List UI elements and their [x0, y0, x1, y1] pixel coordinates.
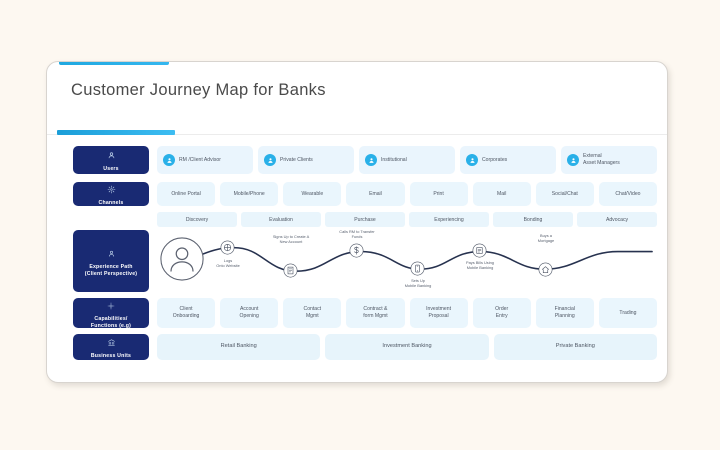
users-icon [107, 147, 116, 165]
channel-pill[interactable]: Online Portal [157, 182, 215, 206]
row-label-capabilities-text: Capabilities/ Functions (e.g) [91, 316, 131, 329]
channel-pill[interactable]: Mobile/Phone [220, 182, 278, 206]
users-cells: RM /Client Advisor Private Clients Insti… [149, 146, 667, 174]
row-label-business-units[interactable]: Business Units [73, 334, 149, 360]
row-label-channels[interactable]: Channels [73, 182, 149, 206]
capability-pill[interactable]: Account Opening [220, 298, 278, 328]
business-unit-pill[interactable]: Private Banking [494, 334, 657, 360]
stage-chip[interactable]: Advocacy [577, 212, 657, 227]
journey-node-label: Logs Onto Website [201, 258, 255, 269]
house-icon[interactable] [538, 262, 553, 277]
stage-chip[interactable]: Experiencing [409, 212, 489, 227]
channel-pill[interactable]: Print [410, 182, 468, 206]
user-pill[interactable]: Corporates [460, 146, 556, 174]
row-label-users[interactable]: Users [73, 146, 149, 174]
stage-chip[interactable]: Discovery [157, 212, 237, 227]
capability-pill[interactable]: Contact Mgmt [283, 298, 341, 328]
business-units-cells: Retail Banking Investment Banking Privat… [149, 334, 667, 360]
globe-icon[interactable] [220, 240, 235, 255]
path-icon [107, 245, 116, 263]
row-label-business-units-text: Business Units [91, 353, 131, 360]
capability-pill[interactable]: Trading [599, 298, 657, 328]
slide-card: Customer Journey Map for Banks Users RM [46, 61, 668, 383]
journey-stages-row: Discovery Evaluation Purchase Experienci… [47, 212, 667, 227]
bill-icon[interactable] [472, 243, 487, 258]
row-label-experience-path-text: Experience Path (Client Perspective) [85, 264, 137, 277]
users-row: Users RM /Client Advisor Private Clients [47, 146, 667, 174]
row-label-experience-path[interactable]: Experience Path (Client Perspective) [73, 230, 149, 292]
capability-pill[interactable]: Contract & form Mgmt [346, 298, 404, 328]
journey-node-label: Calls RM to Transfer Funds [330, 229, 384, 240]
stages-cells: Discovery Evaluation Purchase Experienci… [149, 212, 667, 227]
capability-pill[interactable]: Financial Planning [536, 298, 594, 328]
journey-node-label: Signs Up to Create A New Account [264, 234, 318, 245]
user-pill-label: Corporates [482, 157, 507, 164]
money-icon[interactable] [349, 243, 364, 258]
capability-pill[interactable]: Client Onboarding [157, 298, 215, 328]
journey-node-label: Sets Up Mobile Banking [391, 278, 445, 289]
stage-chip[interactable]: Evaluation [241, 212, 321, 227]
page-title: Customer Journey Map for Banks [71, 81, 326, 100]
stage-chip[interactable]: Bonding [493, 212, 573, 227]
user-pill-label: External Asset Managers [583, 153, 620, 166]
customer-avatar-icon [159, 236, 205, 282]
row-label-channels-text: Channels [99, 200, 124, 207]
capabilities-row: Capabilities/ Functions (e.g) Client Onb… [47, 298, 667, 328]
stage-chip[interactable]: Purchase [325, 212, 405, 227]
experience-path-canvas: Logs Onto Website Signs Up to Create A N… [157, 230, 657, 292]
user-pill[interactable]: Institutional [359, 146, 455, 174]
accent-bar-under-title [57, 130, 175, 135]
channel-pill[interactable]: Chat/Video [599, 182, 657, 206]
bank-icon [107, 334, 116, 352]
person-icon [163, 154, 175, 166]
person-icon [466, 154, 478, 166]
user-pill-label: RM /Client Advisor [179, 157, 221, 164]
channels-row: Channels Online Portal Mobile/Phone Wear… [47, 182, 667, 206]
person-icon [567, 154, 579, 166]
user-pill-label: Institutional [381, 157, 407, 164]
channel-pill[interactable]: Mail [473, 182, 531, 206]
user-pill[interactable]: Private Clients [258, 146, 354, 174]
channels-cells: Online Portal Mobile/Phone Wearable Emai… [149, 182, 667, 206]
person-icon [264, 154, 276, 166]
gear-icon [107, 297, 115, 315]
row-label-users-text: Users [103, 166, 118, 173]
capabilities-cells: Client Onboarding Account Opening Contac… [149, 298, 667, 328]
row-label-capabilities[interactable]: Capabilities/ Functions (e.g) [73, 298, 149, 328]
stages-row-spacer [73, 212, 149, 227]
journey-node-label: Buys a Mortgage [519, 233, 573, 244]
channel-pill[interactable]: Social/Chat [536, 182, 594, 206]
accent-bar-top [59, 62, 169, 65]
business-units-row: Business Units Retail Banking Investment… [47, 334, 667, 360]
mobile-icon[interactable] [410, 261, 425, 276]
form-icon[interactable] [283, 263, 298, 278]
user-pill-label: Private Clients [280, 157, 313, 164]
person-icon [365, 154, 377, 166]
capability-pill[interactable]: Order Entry [473, 298, 531, 328]
slide-canvas: Customer Journey Map for Banks Users RM [0, 0, 720, 450]
channels-icon [107, 181, 116, 199]
channel-pill[interactable]: Email [346, 182, 404, 206]
business-unit-pill[interactable]: Retail Banking [157, 334, 320, 360]
channel-pill[interactable]: Wearable [283, 182, 341, 206]
business-unit-pill[interactable]: Investment Banking [325, 334, 488, 360]
capability-pill[interactable]: Investment Proposal [410, 298, 468, 328]
journey-node-label: Pays Bills Using Mobile Banking [453, 260, 507, 271]
user-pill[interactable]: RM /Client Advisor [157, 146, 253, 174]
user-pill[interactable]: External Asset Managers [561, 146, 657, 174]
experience-path-row: Experience Path (Client Perspective) [47, 230, 667, 292]
